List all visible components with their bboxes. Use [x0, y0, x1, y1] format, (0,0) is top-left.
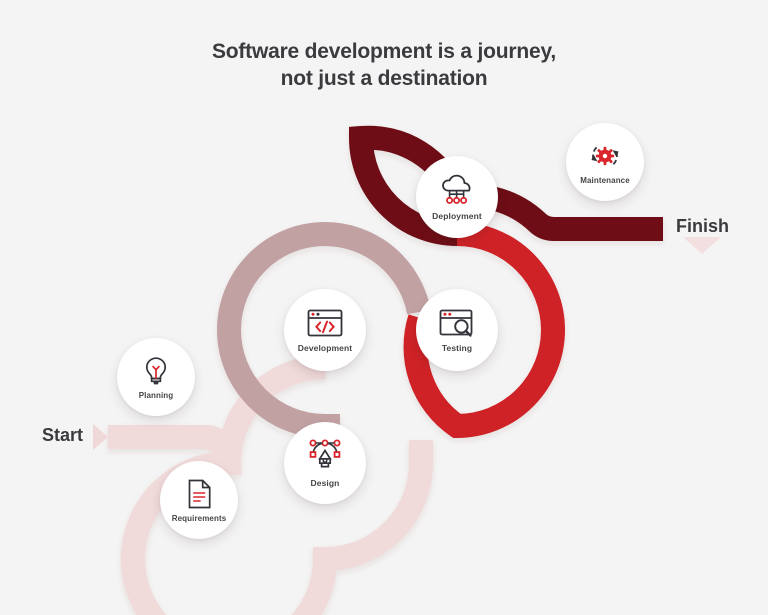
infographic-canvas: Software development is a journey, not j… [0, 0, 768, 615]
stage-label: Deployment [432, 211, 482, 221]
cloud-nodes-icon [437, 173, 477, 207]
stage-label: Design [311, 478, 340, 488]
stage-label: Planning [139, 391, 174, 400]
stage-node-maintenance[interactable]: Maintenance [566, 123, 644, 201]
window-search-icon [438, 307, 476, 339]
stage-node-planning[interactable]: Planning [117, 338, 195, 416]
finish-label: Finish [676, 216, 729, 237]
journey-path [0, 0, 768, 615]
triangle-down-icon [683, 237, 721, 254]
gear-refresh-icon [587, 140, 623, 172]
path-segment-start [108, 437, 421, 615]
lightbulb-icon [141, 355, 171, 387]
code-window-icon [306, 307, 344, 339]
stage-label: Maintenance [580, 176, 630, 185]
document-lines-icon [186, 478, 213, 510]
stage-label: Requirements [172, 514, 227, 523]
stage-node-design[interactable]: Design [284, 422, 366, 504]
triangle-right-icon [93, 424, 108, 450]
stage-node-development[interactable]: Development [284, 289, 366, 371]
stage-node-testing[interactable]: Testing [416, 289, 498, 371]
stage-label: Development [298, 343, 352, 353]
stage-label: Testing [442, 343, 472, 353]
stage-node-deployment[interactable]: Deployment [416, 156, 498, 238]
pen-nib-bezier-icon [305, 438, 345, 474]
start-label: Start [42, 425, 83, 446]
stage-node-requirements[interactable]: Requirements [160, 461, 238, 539]
